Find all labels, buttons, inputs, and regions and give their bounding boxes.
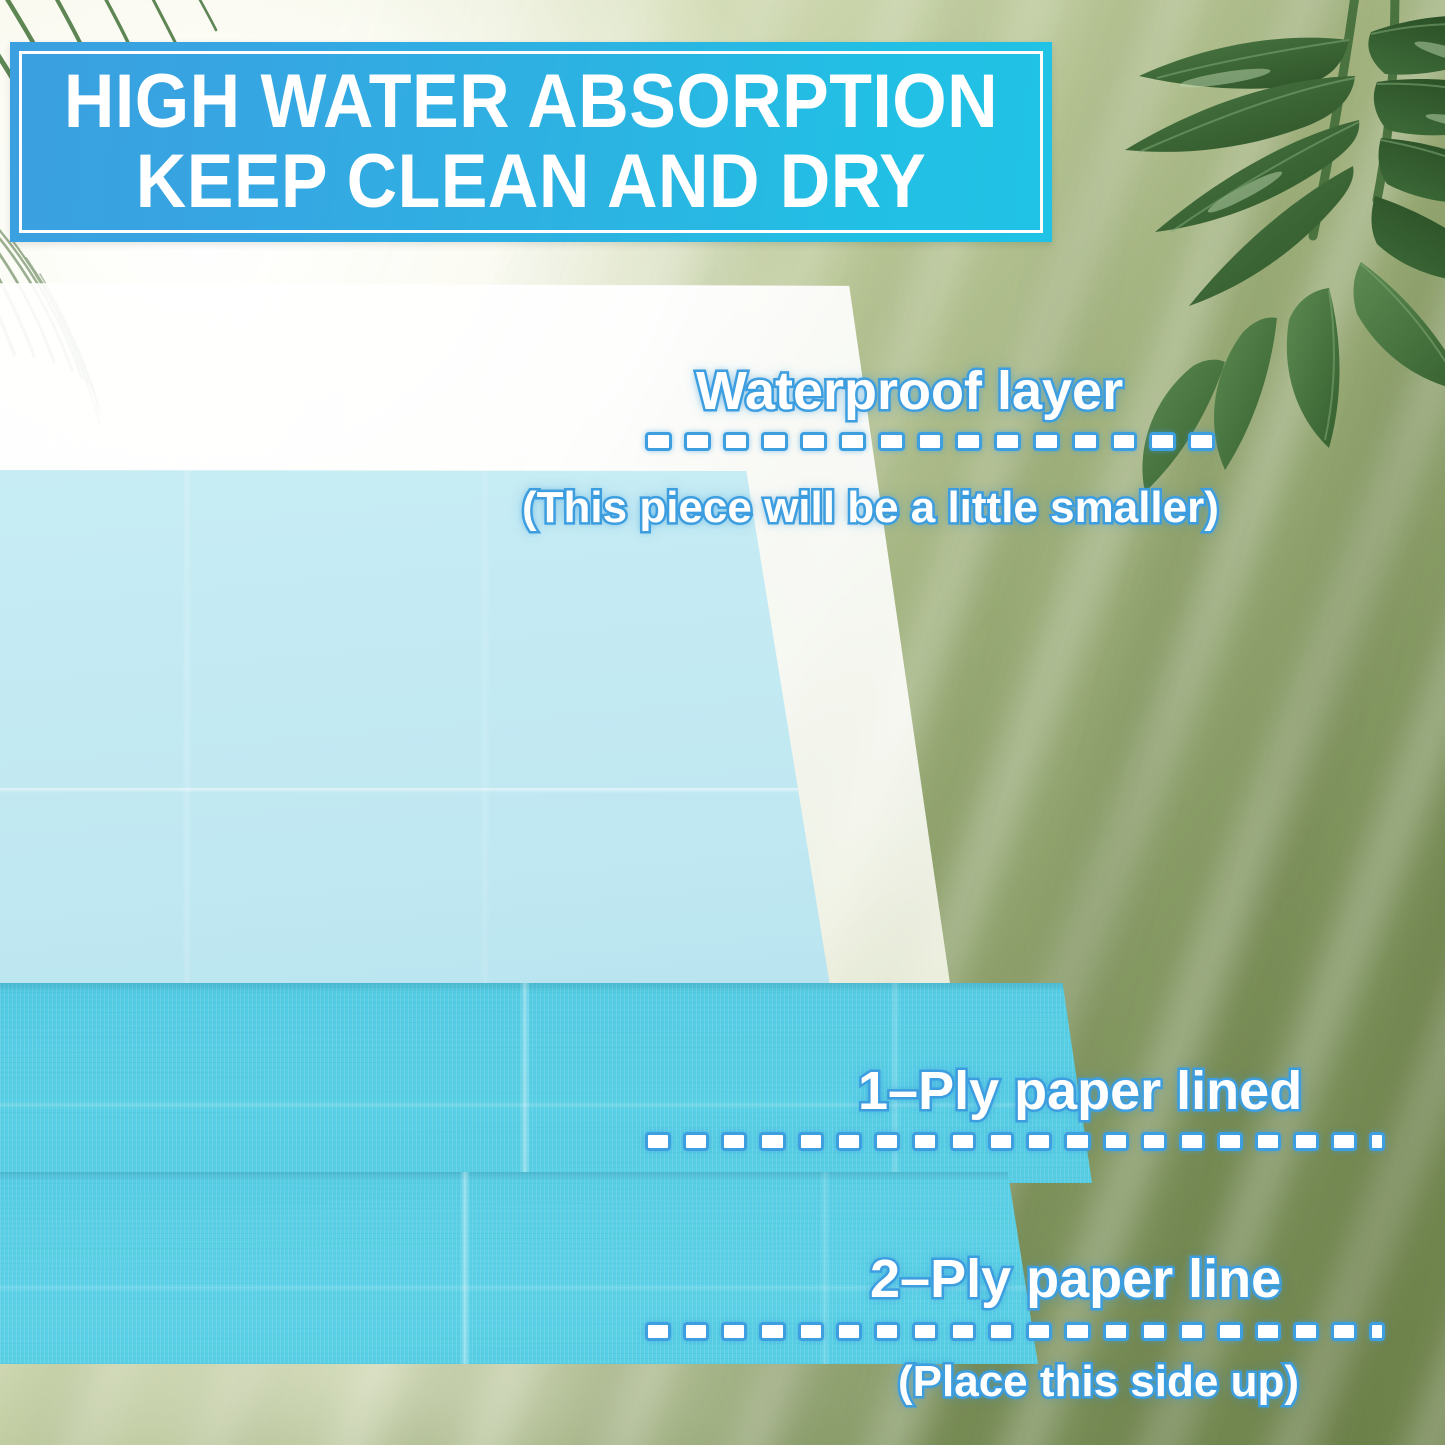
ply-1-vertical-crease [520, 983, 530, 1183]
absorbent-pale-layer [0, 470, 868, 986]
pale-vertical-crease [480, 470, 490, 986]
waterproof-note-label: (This piece will be a little smaller) [522, 484, 1219, 532]
banner-headline-line-2: KEEP CLEAN AND DRY [52, 142, 1011, 222]
ply-2-note-label: (Place this side up) [898, 1358, 1299, 1406]
ply-1-dashed-line [645, 1132, 1385, 1151]
ply-2-vertical-crease [460, 1172, 470, 1364]
waterproof-layer-label: Waterproof layer [696, 362, 1123, 420]
ply-1-top-shadow [0, 983, 1092, 992]
pale-fold-crease [0, 788, 868, 793]
infographic-canvas: HIGH WATER ABSORPTION KEEP CLEAN AND DRY… [0, 0, 1445, 1445]
banner-headline-line-1: HIGH WATER ABSORPTION [52, 62, 1011, 142]
banner-text-block: HIGH WATER ABSORPTION KEEP CLEAN AND DRY [10, 62, 1052, 222]
headline-banner: HIGH WATER ABSORPTION KEEP CLEAN AND DRY [10, 42, 1052, 242]
pale-vertical-crease [182, 470, 192, 986]
ply-2-label: 2–Ply paper line [870, 1250, 1281, 1308]
ply-1-label: 1–Ply paper lined [858, 1062, 1302, 1120]
ply-2-top-shadow [0, 1172, 1038, 1181]
waterproof-dashed-line [645, 432, 1215, 451]
ply-2-dashed-line [645, 1322, 1385, 1341]
